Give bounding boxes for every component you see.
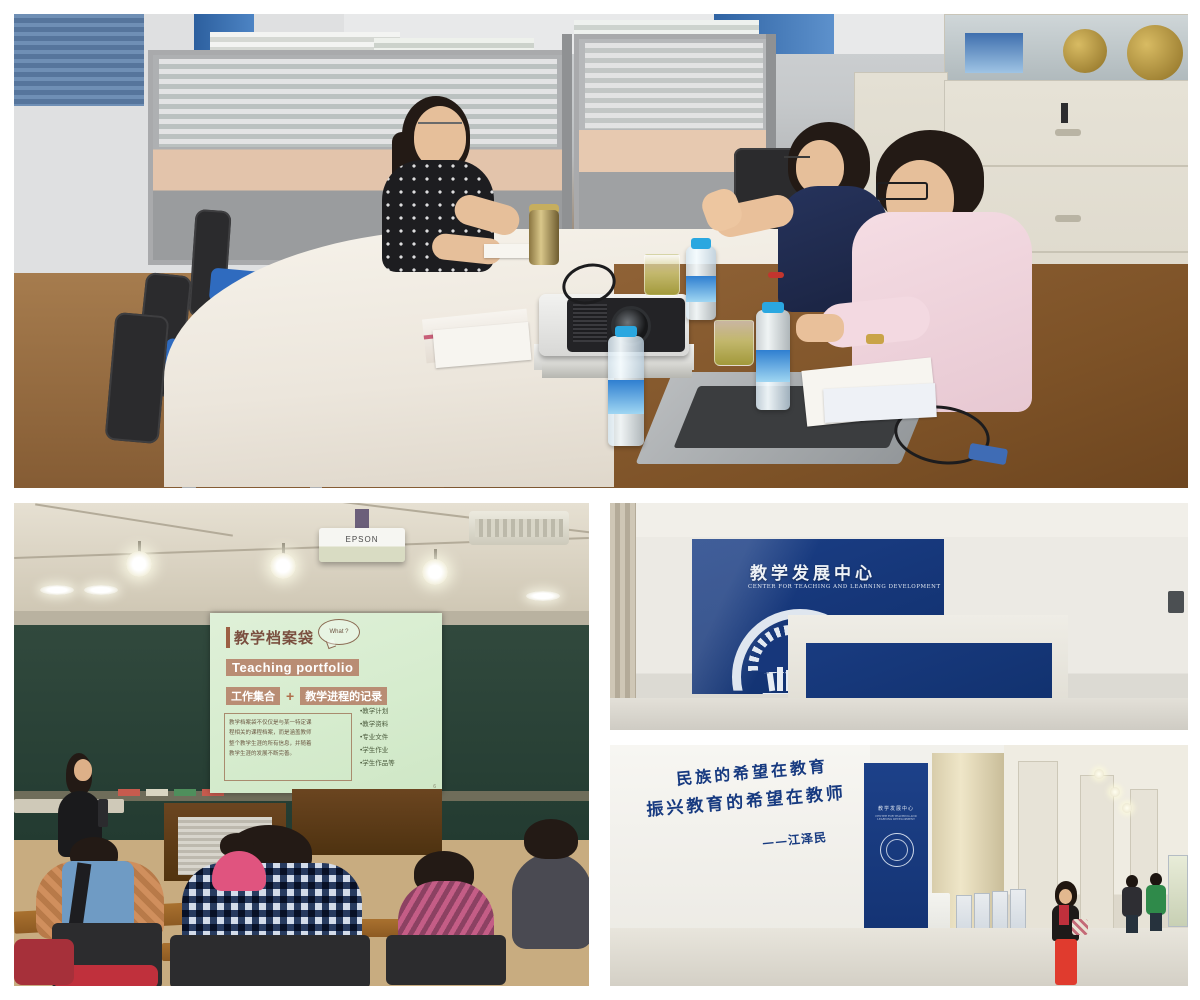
eyeglasses xyxy=(784,156,810,167)
red-scarf xyxy=(1059,905,1069,925)
photo-collage: EPSON 教学档案袋 What ? Teaching portfolio 工作… xyxy=(0,0,1200,1000)
slide-bullet: •专业文件 xyxy=(360,731,395,744)
trophy-plate xyxy=(1127,25,1183,81)
trophy-display-case xyxy=(944,14,1188,86)
meeting-room-photo xyxy=(14,14,1188,488)
wooden-cabinet xyxy=(292,789,442,855)
hair xyxy=(524,819,578,859)
pillar-name-chinese: 教学发展中心 xyxy=(872,805,920,812)
thermos xyxy=(529,210,559,265)
track-spotlight xyxy=(270,553,296,579)
slide-bullet: •教学计划 xyxy=(360,705,395,718)
cabinet-handle[interactable] xyxy=(1055,215,1081,222)
book xyxy=(777,667,783,691)
slide-formula-plus: + xyxy=(286,688,294,704)
slide-body-line: 整个教学生涯的所有信息，并随着 xyxy=(229,739,347,749)
ceiling-projector-epson: EPSON xyxy=(319,528,405,562)
cabinet-key[interactable] xyxy=(1061,103,1068,123)
legs xyxy=(1126,915,1138,933)
track-spotlight xyxy=(126,551,152,577)
red-trousers xyxy=(1055,939,1077,985)
downlight xyxy=(526,591,560,601)
bottle-cap xyxy=(762,302,784,313)
slide-what-bubble: What ? xyxy=(318,619,360,645)
face xyxy=(74,759,92,781)
cabinet-handle[interactable] xyxy=(1055,129,1081,136)
slide-formula-row: 工作集合 + 教学进程的记录 xyxy=(226,687,387,705)
wall-notice xyxy=(1168,855,1188,927)
ac-vent xyxy=(475,519,563,537)
window-blinds-blue xyxy=(14,14,144,106)
classroom-lecture-photo: EPSON 教学档案袋 What ? Teaching portfolio 工作… xyxy=(14,503,589,986)
torso xyxy=(512,853,589,949)
pillar-emblem xyxy=(880,833,914,867)
door-frame xyxy=(1080,775,1114,943)
slide-title: 教学档案袋 xyxy=(226,627,314,648)
epson-brand-label: EPSON xyxy=(319,535,405,544)
face xyxy=(1059,889,1072,904)
hand xyxy=(796,314,844,342)
legs xyxy=(1150,913,1162,931)
downlight xyxy=(84,585,118,595)
chair-seat-red[interactable] xyxy=(14,939,74,985)
handbag xyxy=(1072,919,1088,935)
ceiling xyxy=(610,503,1188,537)
eyeglasses xyxy=(876,182,928,200)
projector-vent xyxy=(573,304,607,342)
name-card xyxy=(484,244,532,258)
slide-formula-left: 工作集合 xyxy=(226,687,280,705)
floor xyxy=(610,928,1188,986)
chalk xyxy=(146,789,168,796)
eyeglasses xyxy=(418,122,462,133)
bottle-label xyxy=(756,350,790,382)
frosted-glass-panel xyxy=(159,59,557,147)
bottle-label xyxy=(686,276,716,302)
center-name-english: CENTER FOR TEACHING AND LEARNING DEVELOP… xyxy=(748,584,941,590)
slide-body-line: 教学档案袋不仅仅是与某一特定课 xyxy=(229,718,347,728)
chair-back[interactable] xyxy=(170,935,370,986)
air-conditioner xyxy=(469,511,569,545)
person-far-2 xyxy=(1146,873,1166,931)
bottle-label xyxy=(608,380,644,414)
chalk xyxy=(118,789,140,796)
torso xyxy=(1146,885,1166,915)
floor xyxy=(610,698,1188,730)
slide-body-line: 程相关的课程档案，而是涵盖教师 xyxy=(229,728,347,738)
person-far-1 xyxy=(1122,875,1142,933)
slide-body-box: 教学档案袋不仅仅是与某一特定课 程相关的课程档案，而是涵盖教师 整个教学生涯的所… xyxy=(224,713,352,781)
documents xyxy=(823,383,937,423)
slide-english-title: Teaching portfolio xyxy=(226,659,359,676)
remote-clicker xyxy=(98,799,108,827)
bottle-cap xyxy=(691,238,711,249)
chair-back[interactable] xyxy=(105,312,170,444)
slide-body-line: 教学生涯的发展不断完善。 xyxy=(229,749,347,759)
slide-formula-right: 教学进程的记录 xyxy=(300,687,387,705)
chalk xyxy=(174,789,196,796)
track-spotlight xyxy=(422,559,448,585)
bottle-cap xyxy=(615,326,637,337)
pillar-name-english: CENTER FOR TEACHING AND LEARNING DEVELOP… xyxy=(868,815,924,821)
corridor-quote-photo: 民族的希望在教育 振兴教育的希望在教师 ——江泽民 教学发展中心 CENTER … xyxy=(610,745,1188,986)
wristwatch xyxy=(866,334,884,344)
slide-bullet-list: •教学计划 •教学资料 •专业文件 •学生作业 •学生作品等 xyxy=(360,705,395,770)
projection-screen: 教学档案袋 What ? Teaching portfolio 工作集合 + 教… xyxy=(210,613,442,793)
center-reception-photo: 教学发展中心 CENTER FOR TEACHING AND LEARNING … xyxy=(610,503,1188,730)
downlight xyxy=(40,585,74,595)
book xyxy=(767,673,775,692)
slide-bullet: •学生作品等 xyxy=(360,757,395,770)
slide-bullet: •学生作业 xyxy=(360,744,395,757)
chair-back[interactable] xyxy=(386,935,506,985)
exit-sign xyxy=(1168,591,1184,613)
window-curtain xyxy=(610,503,636,713)
frosted-glass-panel xyxy=(585,43,763,129)
person-red-trousers xyxy=(1048,881,1082,985)
center-name-chinese: 教学发展中心 xyxy=(750,559,876,584)
tea-glass xyxy=(714,320,754,366)
slide-bullet: •教学资料 xyxy=(360,718,395,731)
ceiling-light xyxy=(1094,769,1104,779)
tea-glass xyxy=(644,254,680,296)
ceiling-light xyxy=(1122,803,1132,813)
face xyxy=(414,106,466,168)
torso xyxy=(1122,887,1142,917)
display-plaque xyxy=(965,33,1023,73)
trophy-plate xyxy=(1063,29,1107,73)
wrist-string xyxy=(768,272,784,278)
ceiling-light xyxy=(1110,787,1120,797)
